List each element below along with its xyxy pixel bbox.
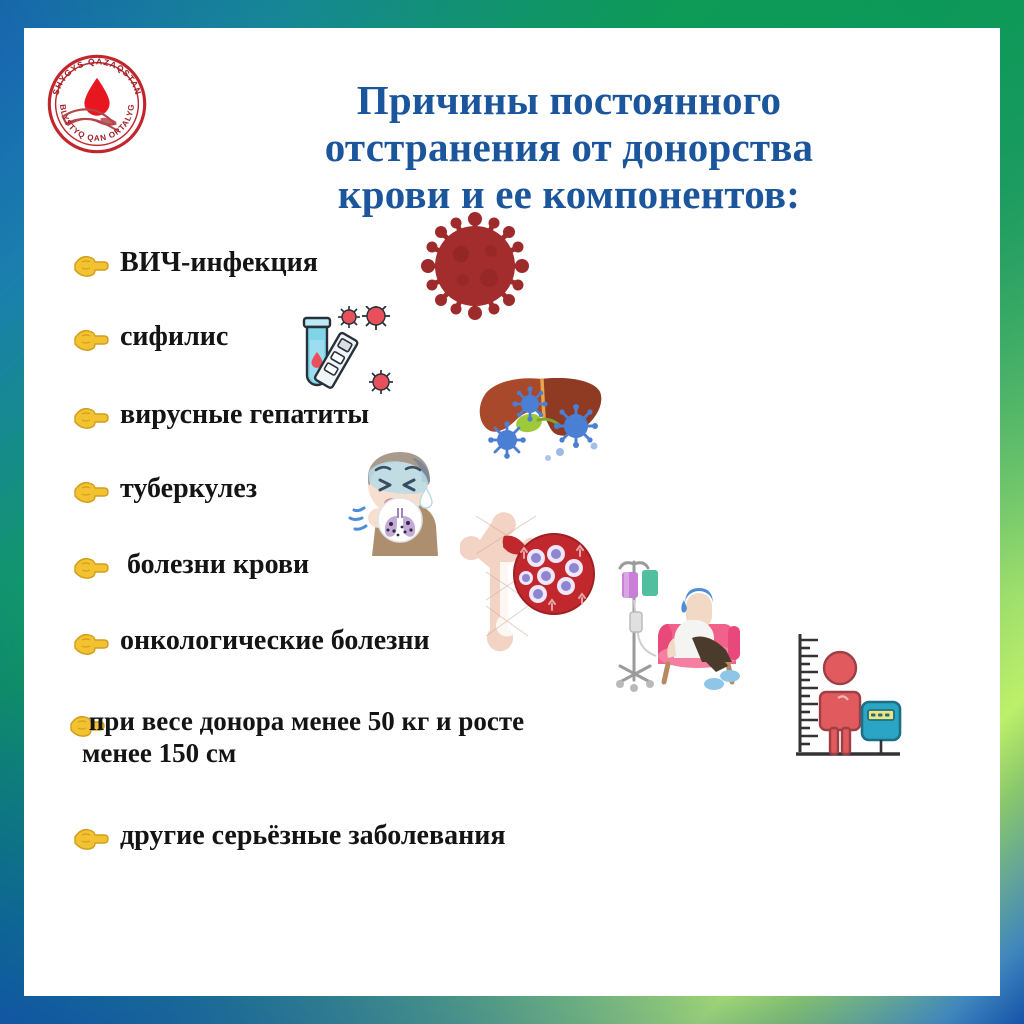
chemotherapy-patient-icon <box>610 546 758 698</box>
list-item: сифилис <box>72 320 228 356</box>
list-item: другие серьёзные заболевания <box>72 819 506 855</box>
list-item-label: при весе донора менее 50 кг и росте мене… <box>82 706 524 770</box>
list-item: туберкулез <box>72 472 257 508</box>
height-weight-scale-icon <box>776 624 912 778</box>
list-item: при весе донора менее 50 кг и росте мене… <box>68 706 524 770</box>
list-item-label: сифилис <box>120 320 228 353</box>
poster-card: SHYGYS QAZAQSTAN OBLYSTYQ QAN ORTALYGY S… <box>24 28 1000 996</box>
list-item: онкологические болезни <box>72 624 430 660</box>
pointing-hand-right-icon <box>72 250 112 282</box>
coronavirus-icon <box>405 206 545 326</box>
pointing-hand-right-icon <box>72 324 112 356</box>
bone-marrow-blood-cells-icon <box>460 502 600 652</box>
pointing-hand-right-icon <box>72 628 112 660</box>
blood-center-logo: SHYGYS QAZAQSTAN OBLYSTYQ QAN ORTALYGY S… <box>43 50 151 158</box>
poster-background: SHYGYS QAZAQSTAN OBLYSTYQ QAN ORTALYGY S… <box>0 0 1024 1024</box>
list-item-label: другие серьёзные заболевания <box>120 819 506 852</box>
pointing-hand-right-icon <box>72 552 112 584</box>
list-item-label: болезни крови <box>120 548 309 581</box>
poster-header: SHYGYS QAZAQSTAN OBLYSTYQ QAN ORTALYGY S… <box>24 28 1000 198</box>
logo-text-top-value: SHYGYS QAZAQSTAN <box>151 50 152 51</box>
liver-virus-icon <box>472 368 608 468</box>
pointing-hand-right-icon <box>72 402 112 434</box>
coughing-person-icon <box>340 446 456 558</box>
list-item-label: ВИЧ-инфекция <box>120 246 318 279</box>
list-item-label: онкологические болезни <box>120 624 430 657</box>
pointing-hand-right-icon <box>72 476 112 508</box>
title-line-3: крови и ее компонентов: <box>174 171 964 218</box>
test-tube-icon <box>286 306 406 402</box>
logo-text-bottom-value: OBLYSTYQ QAN ORTALYGY <box>151 50 152 51</box>
list-item: ВИЧ-инфекция <box>72 246 318 282</box>
list-item-label: туберкулез <box>120 472 257 505</box>
list-item: болезни крови <box>72 548 309 584</box>
list-item-label: вирусные гепатиты <box>120 398 369 431</box>
pointing-hand-right-icon <box>72 823 112 855</box>
title-line-1: Причины постоянного <box>174 77 964 124</box>
list-item: вирусные гепатиты <box>72 398 369 434</box>
page-title: Причины постоянного отстранения от донор… <box>174 77 964 217</box>
title-line-2: отстранения от донорства <box>174 124 964 171</box>
